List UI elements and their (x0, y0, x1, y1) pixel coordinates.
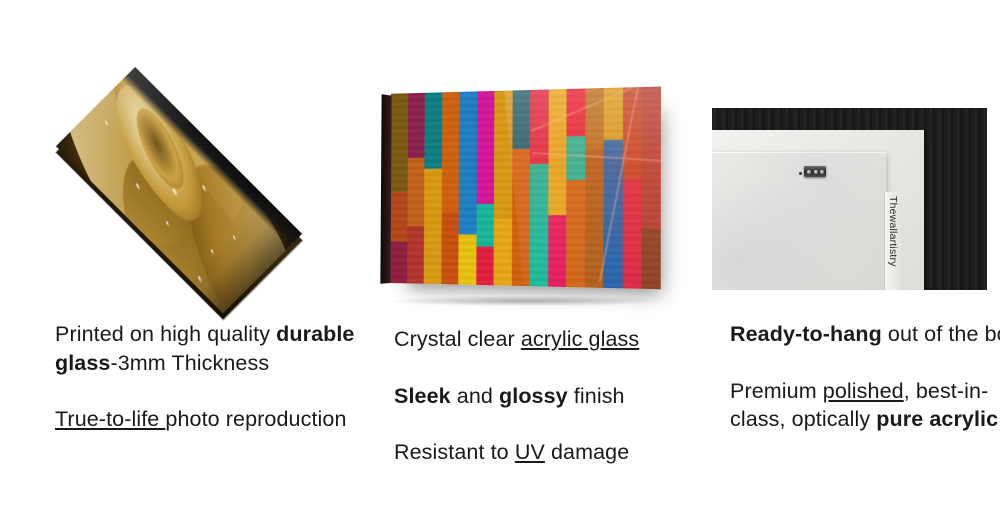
caption-run-underline: acrylic glass (521, 327, 639, 351)
caption-run-underline: polished (823, 379, 904, 403)
caption-run: Printed on high quality (55, 322, 276, 346)
glare-streak (531, 86, 651, 131)
caption-run: -3mm Thickness (110, 351, 269, 375)
panel-back-outer: Thewallartistry (712, 130, 924, 290)
caption-run-bold: pure acrylic (876, 407, 998, 431)
framed-panel-back-image: Thewallartistry (712, 108, 987, 290)
colorful-wood-plank-canvas-image (382, 90, 672, 300)
hanging-caption: Ready-to-hang out of the box Premium pol… (700, 320, 1000, 434)
canvas-drop-shadow (390, 296, 658, 306)
product-feature-banner: Printed on high quality durable glass-3m… (0, 0, 1000, 516)
caption-run: finish (568, 384, 625, 408)
diamond-stage (55, 66, 301, 312)
caption-paragraph: Crystal clear acrylic glass (394, 325, 734, 354)
feature-column-hanging: Thewallartistry Ready-to-hang out of the… (700, 0, 1000, 516)
caption-run: and (451, 384, 499, 408)
acrylic-caption: Crystal clear acrylic glass Sleek and gl… (360, 325, 744, 467)
caption-run: Crystal clear (394, 327, 521, 351)
feature-column-glass: Printed on high quality durable glass-3m… (0, 0, 360, 516)
glass-media-area (0, 80, 360, 305)
bracket-screw-dot (799, 172, 802, 175)
caption-run-underline: UV (515, 440, 545, 464)
caption-paragraph: Premium polished, best-in-class, optical… (730, 377, 1000, 434)
caption-run-bold: Ready-to-hang (730, 322, 882, 346)
caption-run: photo reproduction (165, 407, 346, 431)
brand-label-text: Thewallartistry (887, 196, 899, 267)
feature-column-acrylic: Crystal clear acrylic glass Sleek and gl… (360, 0, 700, 516)
caption-run-bold: glossy (499, 384, 568, 408)
hanging-media-area: Thewallartistry (700, 80, 1000, 305)
caption-paragraph: Sleek and glossy finish (394, 382, 734, 411)
diamond-glass-panel-rose-image (12, 92, 345, 287)
caption-run: damage (545, 440, 629, 464)
canvas-body (390, 86, 662, 289)
canvas-print-face (390, 86, 662, 289)
plank-artwork (390, 86, 662, 289)
glare-streak (532, 151, 661, 162)
caption-run: Premium (730, 379, 823, 403)
acrylic-media-area (360, 80, 700, 305)
caption-paragraph: Ready-to-hang out of the box (730, 320, 1000, 349)
canvas-glare-overlay (504, 86, 662, 289)
hanging-bracket-icon (804, 166, 826, 177)
caption-paragraph: Resistant to UV damage (394, 438, 734, 467)
glare-streak (599, 86, 641, 282)
caption-run: Resistant to (394, 440, 515, 464)
caption-run-underline: True-to-life (55, 407, 165, 431)
caption-run-bold: Sleek (394, 384, 451, 408)
caption-run: out of the box (882, 322, 1000, 346)
